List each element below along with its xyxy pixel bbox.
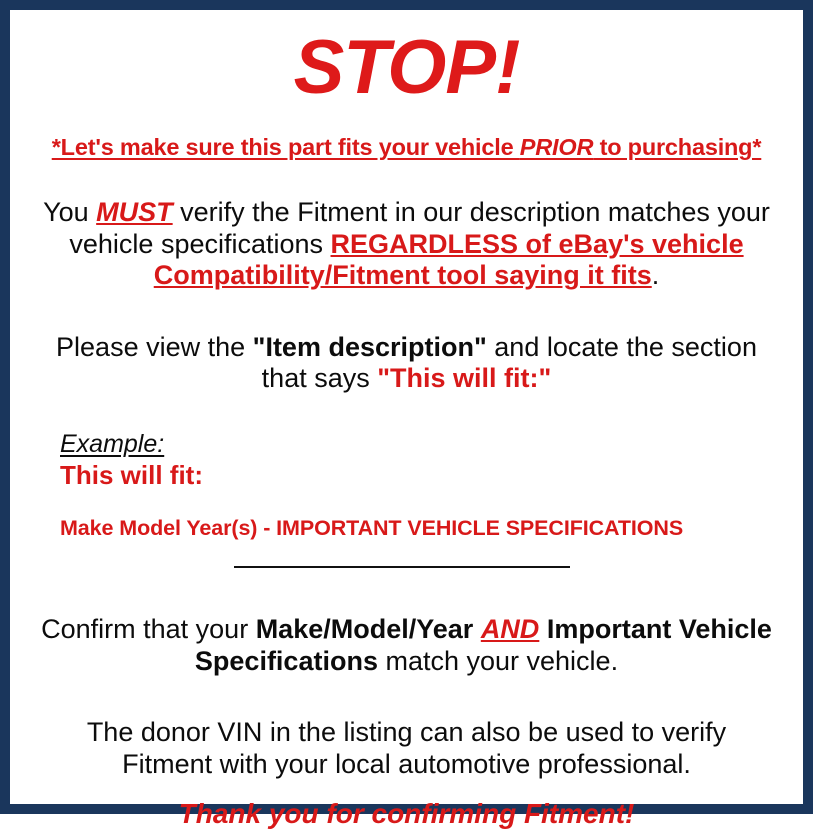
confirm-text-2 [473,614,481,644]
notice-content: STOP! *Let's make sure this part fits yo… [10,10,803,804]
must-emphasis: MUST [96,197,173,227]
example-label-row: Example: [60,431,795,459]
subtitle-text-after: to purchasing* [593,134,761,160]
and-emphasis: AND [481,614,540,644]
subtitle-text-before: *Let's make sure this part fits your veh… [52,134,520,160]
must-text-3: . [652,260,660,290]
stop-title: STOP! [18,30,795,106]
donor-vin-paragraph: The donor VIN in the listing can also be… [18,717,795,780]
closing-thank-you: Thank you for confirming Fitment! [18,798,795,830]
view-text-1: Please view the [56,332,253,362]
confirm-text-1: Confirm that your [41,614,256,644]
example-spec-line: Make Model Year(s) - IMPORTANT VEHICLE S… [60,517,795,541]
must-text-1: You [43,197,96,227]
this-will-fit-emphasis: "This will fit:" [377,363,551,393]
subtitle-prior-emphasis: PRIOR [520,134,593,160]
fitment-notice-card: STOP! *Let's make sure this part fits yo… [0,0,813,814]
subtitle-banner: *Let's make sure this part fits your veh… [18,134,795,161]
section-divider [234,566,570,568]
confirm-text-4: match your vehicle. [378,646,618,676]
make-model-year-emphasis: Make/Model/Year [256,614,474,644]
must-verify-paragraph: You MUST verify the Fitment in our descr… [18,197,795,292]
view-description-paragraph: Please view the "Item description" and l… [18,332,795,395]
confirm-text-3 [539,614,547,644]
example-fit-heading: This will fit: [60,461,795,491]
confirm-paragraph: Confirm that your Make/Model/Year AND Im… [18,614,795,677]
item-description-emphasis: "Item description" [253,332,487,362]
example-label: Example: [60,431,164,459]
example-block: Example: This will fit: Make Model Year(… [18,431,795,541]
divider-wrapper [18,566,795,580]
